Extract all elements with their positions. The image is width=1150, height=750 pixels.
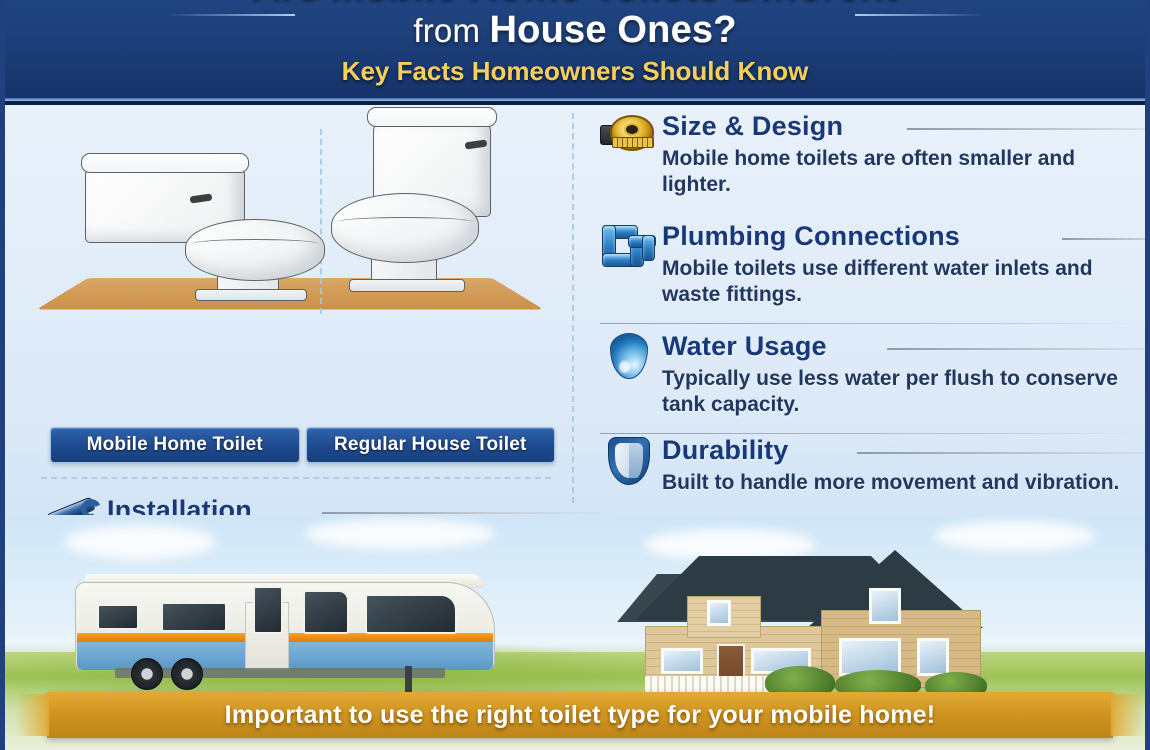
title-line-2-light: from xyxy=(413,12,489,49)
water-drop-icon xyxy=(600,331,656,383)
heading-rule xyxy=(887,348,1150,350)
trailer-window xyxy=(303,590,349,634)
trailer-stabilizer-jack xyxy=(405,666,412,692)
house-window xyxy=(661,648,703,674)
fact-heading: Water Usage xyxy=(662,331,827,361)
title-line-1: Are Mobile Home Toilets Different xyxy=(0,0,1150,8)
mobile-home-trailer-illustration xyxy=(75,572,495,692)
trailer-window xyxy=(365,594,457,634)
fact-heading: Durability xyxy=(662,435,789,465)
fact-text: Typically use less water per flush to co… xyxy=(662,366,1145,418)
drop-shape xyxy=(610,333,648,379)
main-content: Mobile Home Toilet Regular House Toilet … xyxy=(5,105,1145,515)
mobile-home-toilet-illustration xyxy=(85,139,340,299)
toilet-label-row: Mobile Home Toilet Regular House Toilet xyxy=(50,427,555,463)
bottom-banner-text: Important to use the right toilet type f… xyxy=(225,701,936,730)
infographic-poster: Are Mobile Home Toilets Different from H… xyxy=(0,0,1150,750)
title-rule-right xyxy=(855,14,985,16)
trailer-window xyxy=(97,604,139,630)
fact-heading: Plumbing Connections xyxy=(662,221,960,251)
toilet-base xyxy=(195,289,307,301)
toilet-seat-line xyxy=(191,239,319,249)
heading-rule xyxy=(857,452,1150,454)
toilet-tank-lid xyxy=(367,107,497,127)
tape-measure-center xyxy=(624,123,640,136)
fact-heading: Size & Design xyxy=(662,111,843,141)
heading-rule xyxy=(907,128,1150,130)
cloud-shape xyxy=(305,519,495,549)
trailer-window xyxy=(161,602,227,632)
regular-house-toilet-illustration xyxy=(325,107,540,303)
toilet-seat-line xyxy=(337,217,473,227)
left-column: Mobile Home Toilet Regular House Toilet … xyxy=(5,105,572,515)
title-line-2-bold: House Ones? xyxy=(490,9,737,51)
badge-regular-house-toilet: Regular House Toilet xyxy=(306,427,556,463)
house-window xyxy=(869,588,901,624)
fact-separator-1 xyxy=(600,323,1140,324)
fact-text: Mobile home toilets are often smaller an… xyxy=(662,146,1145,198)
bottom-banner: Important to use the right toilet type f… xyxy=(47,692,1113,738)
toilet-bowl xyxy=(331,193,479,263)
tape-measure-band xyxy=(612,137,654,148)
subtitle: Key Facts Homeowners Should Know xyxy=(0,56,1150,86)
pipe-segment xyxy=(642,235,655,261)
right-column: Size & Design Mobile home toilets are of… xyxy=(572,105,1150,515)
toilet-base xyxy=(349,279,465,292)
house-illustration xyxy=(625,538,1025,698)
house-window xyxy=(707,600,731,626)
two-toilets-comparison-illustration xyxy=(35,109,545,321)
fact-text: Mobile toilets use different water inlet… xyxy=(662,256,1145,308)
trailer-window xyxy=(253,586,283,634)
toilet-tank-lid xyxy=(81,153,249,173)
tape-measure-icon xyxy=(600,111,656,163)
fact-separator-2 xyxy=(600,433,1140,434)
fact-body: Plumbing Connections Mobile toilets use … xyxy=(662,221,1145,308)
bottom-illustration-scene: Important to use the right toilet type f… xyxy=(5,515,1145,750)
fact-body: Water Usage Typically use less water per… xyxy=(662,331,1145,418)
fact-body: Durability Built to handle more movement… xyxy=(662,435,1145,496)
trailer-wheel xyxy=(171,658,203,690)
fact-body: Size & Design Mobile home toilets are of… xyxy=(662,111,1145,198)
trailer-chassis xyxy=(115,668,445,678)
heading-rule xyxy=(1062,238,1150,240)
toilet-bowl xyxy=(185,219,325,281)
title-rule-left xyxy=(165,14,295,16)
house-window xyxy=(917,638,949,676)
shield-icon xyxy=(600,435,656,487)
fact-text: Built to handle more movement and vibrat… xyxy=(662,470,1145,496)
header-banner: Are Mobile Home Toilets Different from H… xyxy=(0,0,1150,105)
pipe-icon xyxy=(600,221,656,273)
heading-rule xyxy=(322,512,612,514)
drop-highlight xyxy=(619,361,630,373)
badge-mobile-home-toilet: Mobile Home Toilet xyxy=(50,427,300,463)
trailer-wheel xyxy=(131,658,163,690)
cloud-shape xyxy=(65,525,215,559)
dashed-divider-top xyxy=(41,477,551,479)
